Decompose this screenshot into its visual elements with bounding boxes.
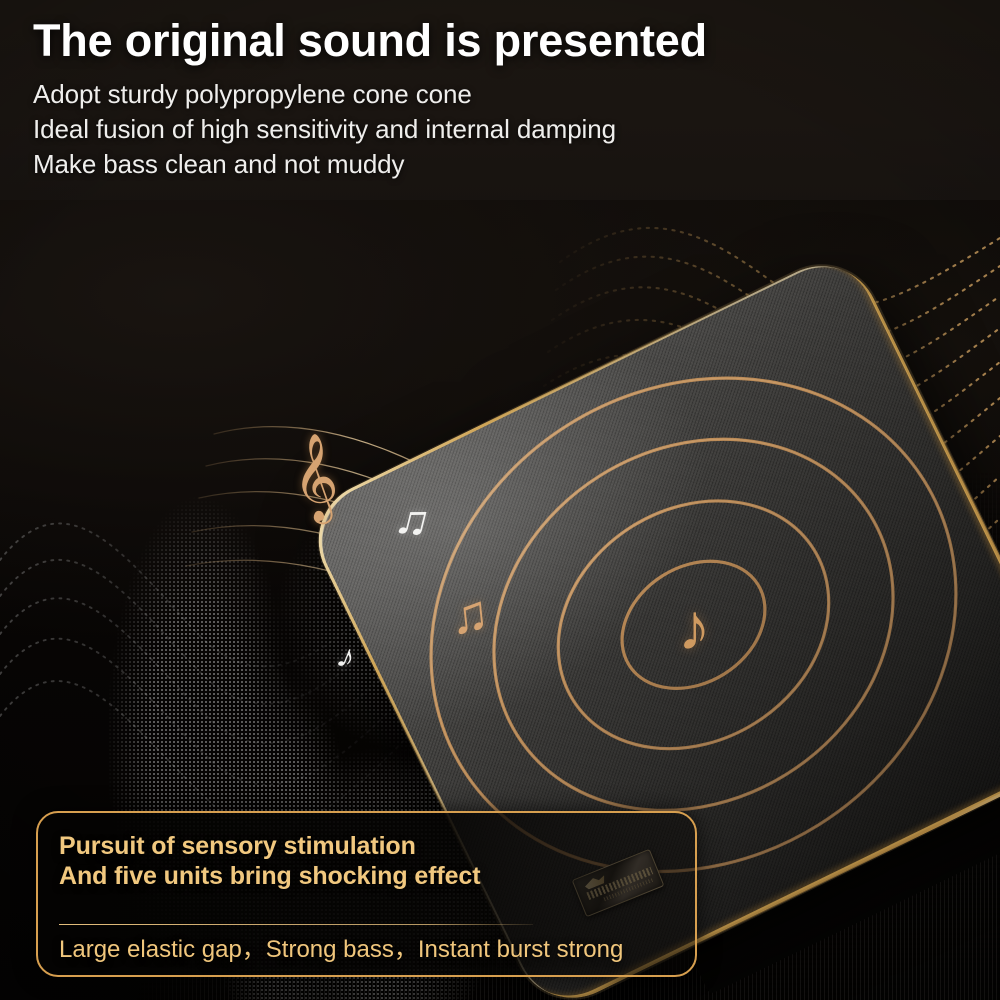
header-block: The original sound is presented Adopt st…: [33, 18, 933, 182]
banner-canvas: ♪ 𝄞♫♫♪ The original sound is presented A…: [0, 0, 1000, 1000]
subtitle-list: Adopt sturdy polypropylene cone cone Ide…: [33, 77, 933, 182]
subtitle-line-3: Make bass clean and not muddy: [33, 147, 933, 182]
feature-callout-box: Pursuit of sensory stimulation And five …: [36, 811, 697, 977]
callout-subtitle: Large elastic gap，Strong bass，Instant bu…: [59, 935, 681, 965]
callout-heading-line-1: Pursuit of sensory stimulation: [59, 831, 681, 861]
eighth-note-icon: ♪: [678, 594, 711, 660]
page-title: The original sound is presented: [33, 18, 933, 65]
subtitle-line-1: Adopt sturdy polypropylene cone cone: [33, 77, 933, 112]
subtitle-line-2: Ideal fusion of high sensitivity and int…: [33, 112, 933, 147]
callout-divider: [59, 924, 533, 925]
callout-heading: Pursuit of sensory stimulation And five …: [59, 831, 681, 891]
callout-heading-line-2: And five units bring shocking effect: [59, 861, 681, 891]
